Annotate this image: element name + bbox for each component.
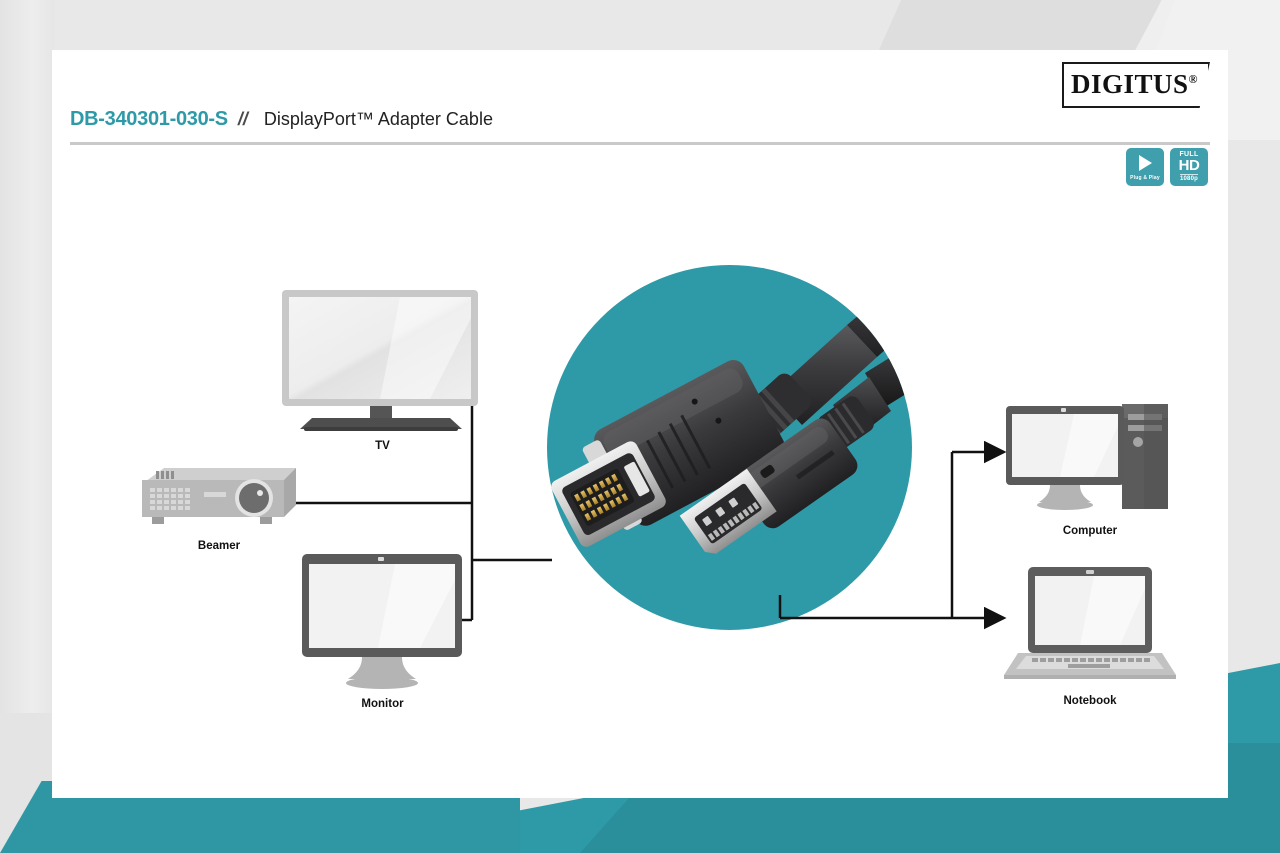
device-label-beamer: Beamer [134,540,304,552]
page-title: DB-340301-030-S // DisplayPort™ Adapter … [70,108,493,131]
badge-full-hd: FULL HD 1080p [1170,148,1208,186]
connection-diagram: TV [52,200,1228,760]
product-sku: DB-340301-030-S [70,108,228,131]
device-notebook-icon [1004,565,1176,687]
badge-plug-and-play: Plug & Play [1126,148,1164,186]
feature-badges: Plug & Play FULL HD 1080p [1126,148,1208,186]
logo-wordmark-text: DIGITUS [1071,69,1189,99]
device-tv-icon [280,288,485,433]
title-separator: // [238,109,248,130]
logo-wordmark: DIGITUS® [1071,69,1198,100]
digitus-logo: DIGITUS® [1062,62,1210,108]
device-monitor-icon [300,552,465,692]
title-divider [70,142,1210,145]
cable-photo-clip [549,270,912,558]
device-label-tv: TV [280,440,485,452]
device-label-notebook: Notebook [1004,695,1176,707]
device-label-monitor: Monitor [300,698,465,710]
device-computer-icon [1004,400,1176,515]
badge-full-hd-line3: 1080p [1180,174,1198,182]
product-cable-image [547,265,912,630]
device-beamer-icon [134,458,304,533]
product-name: DisplayPort™ Adapter Cable [264,109,493,130]
play-arrow-icon [1139,155,1152,171]
badge-full-hd-line2: HD [1179,159,1200,173]
product-sheet-card: DIGITUS® DB-340301-030-S // DisplayPort™… [52,50,1228,798]
registered-trademark-icon: ® [1189,72,1198,86]
badge-plug-and-play-label: Plug & Play [1130,175,1160,181]
device-label-computer: Computer [1004,525,1176,537]
